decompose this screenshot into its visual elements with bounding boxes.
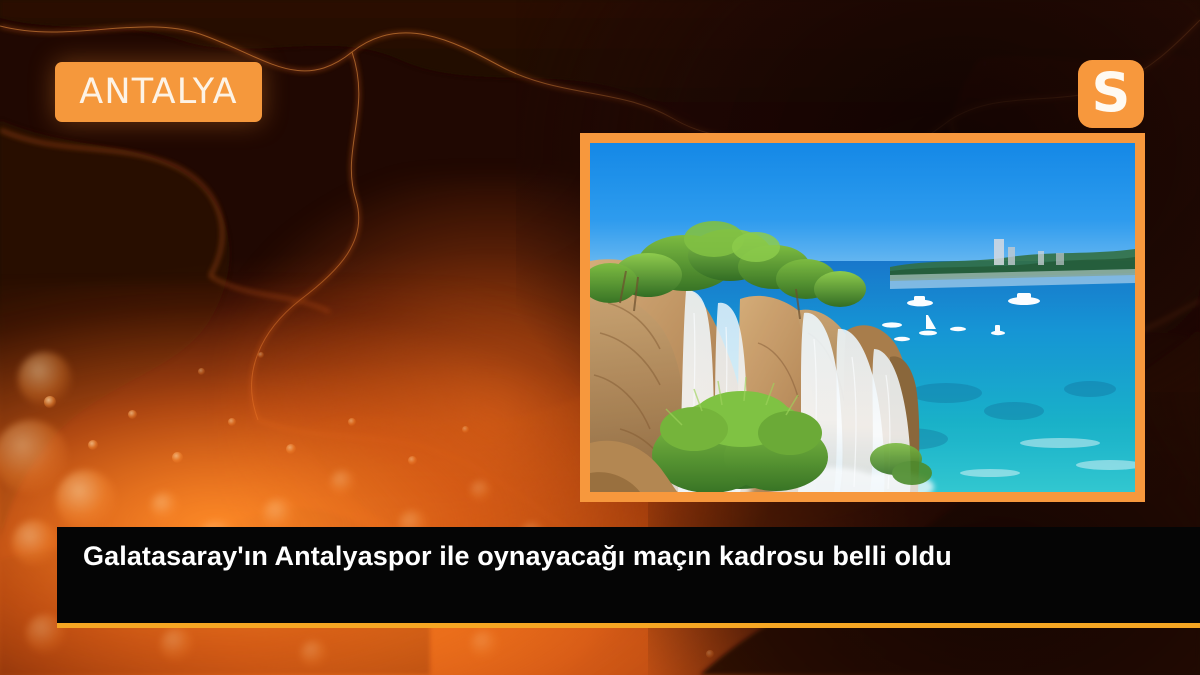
headline-text: Galatasaray'ın Antalyaspor ile oynayacağ… xyxy=(83,539,1174,575)
headline-accent-rule xyxy=(57,623,1200,628)
city-badge: ANTALYA xyxy=(55,62,262,122)
news-card: ANTALYA S xyxy=(0,0,1200,675)
photo-frame xyxy=(580,133,1145,502)
headline-bar: Galatasaray'ın Antalyaspor ile oynayacağ… xyxy=(57,527,1200,623)
logo-letter: S xyxy=(1092,66,1131,120)
photo-duden-waterfalls xyxy=(590,143,1135,492)
city-badge-label: ANTALYA xyxy=(79,75,238,110)
logo-badge[interactable]: S xyxy=(1078,60,1144,128)
